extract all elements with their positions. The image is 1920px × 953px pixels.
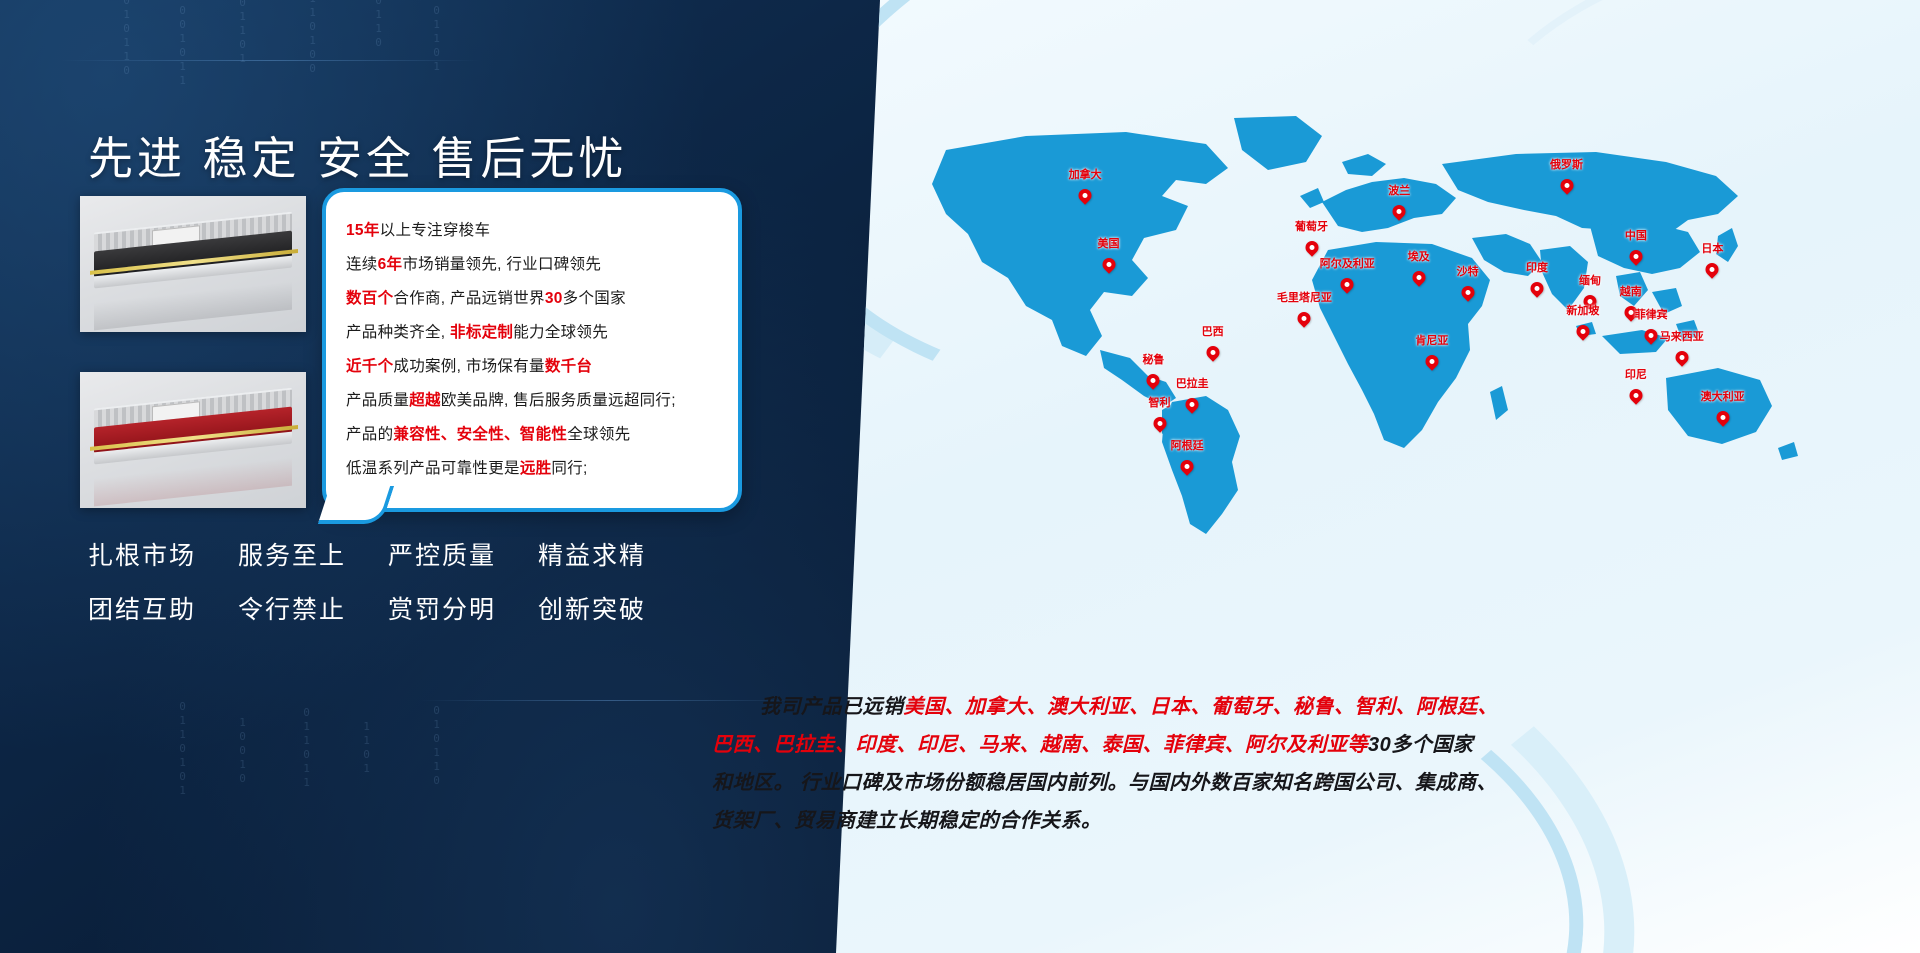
map-pin[interactable]: 澳大利亚 bbox=[1716, 411, 1729, 424]
map-pin[interactable]: 加拿大 bbox=[1079, 189, 1092, 202]
map-pin-label: 毛里塔尼亚 bbox=[1277, 289, 1332, 305]
map-pin-label: 日本 bbox=[1701, 240, 1723, 256]
map-pin-label: 缅甸 bbox=[1579, 272, 1601, 288]
highlight-text: 合作商, 产品远销世界 bbox=[393, 290, 544, 307]
highlight-line: 产品质量超越欧美品牌, 售后服务质量远超同行; bbox=[346, 384, 738, 418]
map-pin-label: 波兰 bbox=[1388, 182, 1410, 198]
location-pin-icon bbox=[1713, 408, 1731, 426]
highlight-text: 成功案例, 市场保有量 bbox=[393, 358, 544, 375]
map-pin-label: 俄罗斯 bbox=[1550, 156, 1583, 172]
summary-line-2: 巴西、巴拉圭、印度、印尼、马来、越南、泰国、菲律宾、阿尔及利亚等30多个国家 bbox=[712, 726, 1840, 764]
map-pin[interactable]: 阿根廷 bbox=[1181, 460, 1194, 473]
location-pin-icon bbox=[1673, 348, 1691, 366]
location-pin-icon bbox=[1528, 279, 1546, 297]
location-pin-icon bbox=[1409, 268, 1427, 286]
location-pin-icon bbox=[1423, 352, 1441, 370]
map-pin-label: 智利 bbox=[1149, 394, 1171, 410]
poster-root: 010110 1001011 01101 110100 0110 101101 … bbox=[0, 0, 1920, 953]
location-pin-icon bbox=[1150, 415, 1168, 433]
slogan-item: 精益求精 bbox=[538, 536, 688, 572]
highlight-text: 市场销量领先, 行业口碑领先 bbox=[402, 256, 601, 273]
binary-texture: 01101 bbox=[236, 0, 249, 106]
map-pin[interactable]: 中国 bbox=[1629, 250, 1642, 263]
highlight-emphasis: 6年 bbox=[378, 256, 403, 273]
highlight-line: 产品种类齐全, 非标定制能力全球领先 bbox=[346, 316, 738, 350]
product-photo-black bbox=[80, 196, 306, 332]
map-pin[interactable]: 秘鲁 bbox=[1147, 374, 1160, 387]
map-pin[interactable]: 新加坡 bbox=[1576, 325, 1589, 338]
summary-line-4: 货架厂、贸易商建立长期稳定的合作关系。 bbox=[712, 802, 1840, 840]
highlight-emphasis: 数千台 bbox=[545, 358, 592, 375]
map-pin-label: 美国 bbox=[1098, 235, 1120, 251]
location-pin-icon bbox=[1703, 260, 1721, 278]
location-pin-icon bbox=[1076, 187, 1094, 205]
map-pin[interactable]: 肯尼亚 bbox=[1425, 355, 1438, 368]
location-pin-icon bbox=[1642, 326, 1660, 344]
location-pin-icon bbox=[1183, 395, 1201, 413]
location-pin-icon bbox=[1557, 176, 1575, 194]
slogan-grid: 扎根市场服务至上严控质量精益求精团结互助令行禁止赏罚分明创新突破 bbox=[88, 536, 688, 626]
highlight-text: 产品质量 bbox=[346, 392, 409, 409]
map-pin-label: 新加坡 bbox=[1566, 302, 1599, 318]
location-pin-icon bbox=[1458, 283, 1476, 301]
slogan-item: 令行禁止 bbox=[238, 590, 388, 626]
binary-texture: 011011 bbox=[300, 706, 313, 826]
map-pin-label: 巴西 bbox=[1202, 323, 1224, 339]
world-map: 加拿大美国巴西秘鲁巴拉圭智利阿根廷葡萄牙波兰俄罗斯阿尔及利亚埃及沙特印度中国日本… bbox=[876, 110, 1896, 540]
highlight-text: 产品的 bbox=[346, 426, 393, 443]
summary-line-3: 和地区。 行业口碑及市场份额稳居国内前列。与国内外数百家知名跨国公司、集成商、 bbox=[712, 764, 1840, 802]
map-pin-label: 阿根廷 bbox=[1171, 437, 1204, 453]
highlight-text: 全球领先 bbox=[567, 426, 630, 443]
page-title: 先进 稳定 安全 售后无忧 bbox=[88, 122, 628, 187]
highlight-text: 以上专注穿梭车 bbox=[380, 222, 491, 239]
location-pin-icon bbox=[1574, 322, 1592, 340]
map-pin[interactable]: 智利 bbox=[1153, 417, 1166, 430]
location-pin-icon bbox=[1295, 309, 1313, 327]
highlight-emphasis: 远胜 bbox=[520, 460, 552, 477]
map-pin[interactable]: 印度 bbox=[1530, 282, 1543, 295]
binary-texture: 110100 bbox=[306, 0, 319, 132]
slogan-item: 创新突破 bbox=[538, 590, 688, 626]
map-pin-label: 中国 bbox=[1625, 227, 1647, 243]
summary-line-1: 我司产品已远销美国、加拿大、澳大利亚、日本、葡萄牙、秘鲁、智利、阿根廷、 bbox=[760, 688, 1840, 726]
highlights-callout: 15年以上专注穿梭车连续6年市场销量领先, 行业口碑领先数百个合作商, 产品远销… bbox=[322, 188, 742, 512]
map-pin-label: 肯尼亚 bbox=[1415, 332, 1448, 348]
map-pin[interactable]: 美国 bbox=[1102, 258, 1115, 271]
map-pin-label: 沙特 bbox=[1457, 263, 1479, 279]
map-pin-label: 印度 bbox=[1526, 259, 1548, 275]
slogan-item: 团结互助 bbox=[88, 590, 238, 626]
summary-count: 30多个国家 bbox=[1368, 734, 1473, 756]
highlight-text: 多个国家 bbox=[563, 290, 626, 307]
highlight-line: 15年以上专注穿梭车 bbox=[346, 214, 738, 248]
map-pin-label: 埃及 bbox=[1408, 248, 1430, 264]
highlight-line: 连续6年市场销量领先, 行业口碑领先 bbox=[346, 248, 738, 282]
summary-paragraph: 我司产品已远销美国、加拿大、澳大利亚、日本、葡萄牙、秘鲁、智利、阿根廷、 巴西、… bbox=[760, 688, 1840, 840]
location-pin-icon bbox=[1144, 372, 1162, 390]
highlight-emphasis: 非标定制 bbox=[450, 324, 513, 341]
binary-texture: 0110101 bbox=[176, 700, 189, 830]
location-pin-icon bbox=[1302, 238, 1320, 256]
decorative-line bbox=[60, 60, 480, 61]
map-pin[interactable]: 巴西 bbox=[1206, 346, 1219, 359]
slogan-item: 服务至上 bbox=[238, 536, 388, 572]
map-pin-label: 葡萄牙 bbox=[1295, 218, 1328, 234]
location-pin-icon bbox=[1099, 256, 1117, 274]
highlight-emphasis: 30 bbox=[545, 290, 563, 307]
highlight-text: 欧美品牌, 售后服务质量远超同行; bbox=[441, 392, 676, 409]
highlight-line: 数百个合作商, 产品远销世界30多个国家 bbox=[346, 282, 738, 316]
callout-tail bbox=[318, 486, 394, 524]
location-pin-icon bbox=[1627, 387, 1645, 405]
highlight-text: 能力全球领先 bbox=[513, 324, 608, 341]
location-pin-icon bbox=[1627, 247, 1645, 265]
location-pin-icon bbox=[1390, 202, 1408, 220]
slogan-item: 扎根市场 bbox=[88, 536, 238, 572]
highlight-text: 产品种类齐全, bbox=[346, 324, 450, 341]
map-pin-label: 阿尔及利亚 bbox=[1320, 255, 1375, 271]
world-map-svg bbox=[876, 110, 1896, 540]
map-pin-label: 马来西亚 bbox=[1660, 328, 1704, 344]
slogan-item: 赏罚分明 bbox=[388, 590, 538, 626]
map-pin[interactable]: 俄罗斯 bbox=[1560, 179, 1573, 192]
highlight-emphasis: 15年 bbox=[346, 222, 380, 239]
map-pin[interactable]: 埃及 bbox=[1412, 271, 1425, 284]
map-pin[interactable]: 波兰 bbox=[1393, 205, 1406, 218]
map-pin[interactable]: 巴拉圭 bbox=[1186, 398, 1199, 411]
highlights-list: 15年以上专注穿梭车连续6年市场销量领先, 行业口碑领先数百个合作商, 产品远销… bbox=[326, 192, 738, 486]
map-pin-label: 澳大利亚 bbox=[1701, 388, 1745, 404]
highlight-text: 低温系列产品可靠性更是 bbox=[346, 460, 520, 477]
highlight-emphasis: 兼容性、安全性、智能性 bbox=[393, 426, 567, 443]
summary-countries-1: 美国、加拿大、澳大利亚、日本、葡萄牙、秘鲁、智利、阿根廷、 bbox=[904, 696, 1499, 718]
location-pin-icon bbox=[1178, 458, 1196, 476]
map-pin-label: 菲律宾 bbox=[1635, 306, 1668, 322]
map-pin[interactable]: 菲律宾 bbox=[1645, 329, 1658, 342]
summary-prefix: 我司产品已远销 bbox=[760, 696, 904, 718]
map-pin[interactable]: 马来西亚 bbox=[1675, 351, 1688, 364]
highlight-emphasis: 数百个 bbox=[346, 290, 393, 307]
map-pin[interactable]: 印尼 bbox=[1629, 389, 1642, 402]
location-pin-icon bbox=[1338, 275, 1356, 293]
binary-texture: 1101 bbox=[360, 720, 373, 820]
highlight-line: 近千个成功案例, 市场保有量数千台 bbox=[346, 350, 738, 384]
map-pin-label: 巴拉圭 bbox=[1176, 375, 1209, 391]
map-pin-label: 越南 bbox=[1620, 283, 1642, 299]
map-pin[interactable]: 阿尔及利亚 bbox=[1341, 278, 1354, 291]
highlight-line: 产品的兼容性、安全性、智能性全球领先 bbox=[346, 418, 738, 452]
binary-texture: 0110 bbox=[372, 0, 385, 90]
map-pin-label: 加拿大 bbox=[1069, 166, 1102, 182]
map-pin[interactable]: 沙特 bbox=[1461, 286, 1474, 299]
binary-texture: 010110 bbox=[120, 0, 133, 114]
product-photo-red bbox=[80, 372, 306, 508]
highlight-emphasis: 近千个 bbox=[346, 358, 393, 375]
highlight-line: 低温系列产品可靠性更是远胜同行; bbox=[346, 452, 738, 486]
map-pin-label: 秘鲁 bbox=[1142, 351, 1164, 367]
map-pin[interactable]: 毛里塔尼亚 bbox=[1298, 312, 1311, 325]
map-pin[interactable]: 日本 bbox=[1706, 263, 1719, 276]
map-pin[interactable]: 葡萄牙 bbox=[1305, 241, 1318, 254]
map-pin-label: 印尼 bbox=[1625, 366, 1647, 382]
highlight-emphasis: 超越 bbox=[409, 392, 441, 409]
highlight-text: 同行; bbox=[551, 460, 587, 477]
summary-countries-2: 巴西、巴拉圭、印度、印尼、马来、越南、泰国、菲律宾、阿尔及利亚等 bbox=[712, 734, 1368, 756]
decorative-line bbox=[420, 700, 800, 701]
binary-texture: 1001011 bbox=[176, 0, 189, 140]
slogan-item: 严控质量 bbox=[388, 536, 538, 572]
binary-texture: 010110 bbox=[430, 704, 443, 830]
highlight-text: 连续 bbox=[346, 256, 378, 273]
location-pin-icon bbox=[1203, 344, 1221, 362]
binary-texture: 10010 bbox=[236, 716, 249, 826]
